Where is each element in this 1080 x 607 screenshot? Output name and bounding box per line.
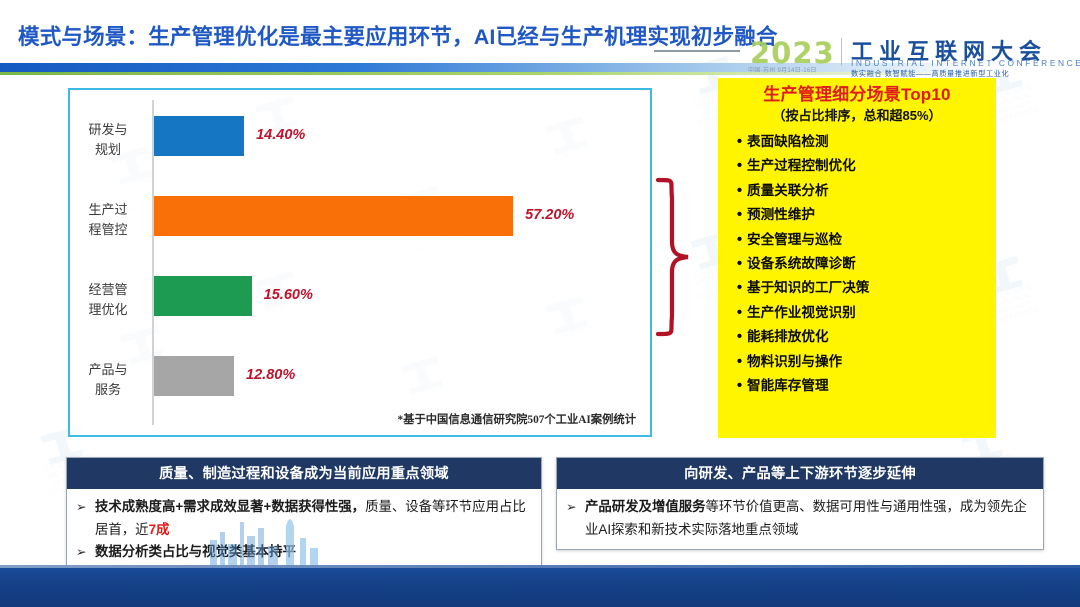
top10-item-label: 预测性维护 — [747, 203, 815, 227]
chart-category-label: 研发与规划 — [70, 120, 146, 160]
callout-text-run: 7成 — [149, 522, 170, 537]
top10-list-item: •质量关联分析 — [724, 179, 990, 203]
callout-box-right: 向研发、产品等上下游环节逐步延伸 ➢产品研发及增值服务等环节价值更高、数据可用性… — [556, 457, 1044, 550]
chart-footnote: *基于中国信息通信研究院507个工业AI案例统计 — [398, 411, 637, 427]
bullet-dot-icon: • — [732, 374, 747, 398]
top10-list-item: •生产过程控制优化 — [724, 154, 990, 178]
chart-category-label: 经营管理优化 — [70, 280, 146, 320]
chart-bar — [154, 356, 234, 396]
top10-item-label: 安全管理与巡检 — [747, 228, 842, 252]
callout-right-body: ➢产品研发及增值服务等环节价值更高、数据可用性与通用性强，成为领先企业AI探索和… — [557, 489, 1043, 549]
callout-bullet-row: ➢产品研发及增值服务等环节价值更高、数据可用性与通用性强，成为领先企业AI探索和… — [566, 496, 1033, 541]
chart-bar — [154, 276, 252, 316]
arrow-bullet-icon: ➢ — [76, 541, 95, 564]
top10-list-item: •智能库存管理 — [724, 374, 990, 398]
chart-bar — [154, 116, 245, 156]
top10-item-label: 设备系统故障诊断 — [747, 252, 856, 276]
top10-item-label: 生产过程控制优化 — [747, 154, 856, 178]
top10-list-item: •安全管理与巡检 — [724, 228, 990, 252]
top10-item-label: 物料识别与操作 — [747, 350, 842, 374]
callout-text-run: 产品研发及增值服务 — [585, 499, 706, 514]
top10-item-label: 基于知识的工厂决策 — [747, 276, 869, 300]
top10-item-label: 能耗排放优化 — [747, 325, 829, 349]
arrow-bullet-icon: ➢ — [566, 496, 585, 519]
page-title: 模式与场景：生产管理优化是最主要应用环节，AI已经与生产机理实现初步融合 — [18, 20, 758, 51]
top10-list-item: •基于知识的工厂决策 — [724, 276, 990, 300]
bullet-dot-icon: • — [732, 276, 747, 300]
conference-logo: 2023 工业互联网大会 INDUSTRIAL INTERNET CONFERE… — [744, 36, 1074, 82]
top10-list-item: •表面缺陷检测 — [724, 130, 990, 154]
chart-bar — [154, 196, 514, 236]
bullet-dot-icon: • — [732, 130, 747, 154]
chart-value-label: 57.20% — [525, 207, 574, 223]
chart-category-label: 生产过程管控 — [70, 200, 146, 240]
slide-footer-band — [0, 565, 1080, 607]
chart-value-label: 15.60% — [264, 287, 313, 303]
bullet-dot-icon: • — [732, 325, 747, 349]
chart-category-label: 产品与服务 — [70, 360, 146, 400]
top10-panel: 生产管理细分场景Top10 （按占比排序，总和超85%） •表面缺陷检测•生产过… — [718, 78, 996, 438]
chart-value-label: 14.40% — [256, 127, 305, 143]
logo-separator — [841, 38, 842, 66]
bullet-dot-icon: • — [732, 228, 747, 252]
callout-text: 产品研发及增值服务等环节价值更高、数据可用性与通用性强，成为领先企业AI探索和新… — [585, 496, 1033, 541]
top10-item-label: 质量关联分析 — [747, 179, 829, 203]
top10-item-label: 生产作业视觉识别 — [747, 301, 856, 325]
bullet-dot-icon: • — [732, 154, 747, 178]
bullet-dot-icon: • — [732, 252, 747, 276]
top10-item-label: 智能库存管理 — [747, 374, 829, 398]
slide-canvas: 工业互联网大会INDUSTRIALINTERNETCONFERENCE工业互联网… — [0, 0, 1080, 607]
bar-chart-panel: 研发与规划14.40%生产过程管控57.20%经营管理优化15.60%产品与服务… — [68, 88, 652, 437]
red-brace-icon — [648, 176, 710, 338]
top10-list: •表面缺陷检测•生产过程控制优化•质量关联分析•预测性维护•安全管理与巡检•设备… — [724, 130, 990, 398]
callout-left-header: 质量、制造过程和设备成为当前应用重点领域 — [67, 458, 541, 489]
top10-list-item: •设备系统故障诊断 — [724, 252, 990, 276]
top10-subtitle: （按占比排序，总和超85%） — [724, 106, 990, 125]
logo-dash-rule — [654, 50, 740, 52]
bullet-dot-icon: • — [732, 203, 747, 227]
logo-en-name: INDUSTRIAL INTERNET CONFERENCE — [851, 58, 1080, 68]
top10-list-item: •物料识别与操作 — [724, 350, 990, 374]
logo-date: 中国·苏州 9月14日-16日 — [748, 65, 817, 74]
chart-value-label: 12.80% — [246, 367, 295, 383]
callout-right-header: 向研发、产品等上下游环节逐步延伸 — [557, 458, 1043, 489]
top10-list-item: •预测性维护 — [724, 203, 990, 227]
bullet-dot-icon: • — [732, 179, 747, 203]
top10-title: 生产管理细分场景Top10 — [724, 84, 990, 105]
bullet-dot-icon: • — [732, 301, 747, 325]
bullet-dot-icon: • — [732, 350, 747, 374]
arrow-bullet-icon: ➢ — [76, 496, 95, 519]
top10-item-label: 表面缺陷检测 — [747, 130, 829, 154]
city-skyline-decoration — [190, 510, 380, 565]
top10-list-item: •生产作业视觉识别 — [724, 301, 990, 325]
top10-list-item: •能耗排放优化 — [724, 325, 990, 349]
